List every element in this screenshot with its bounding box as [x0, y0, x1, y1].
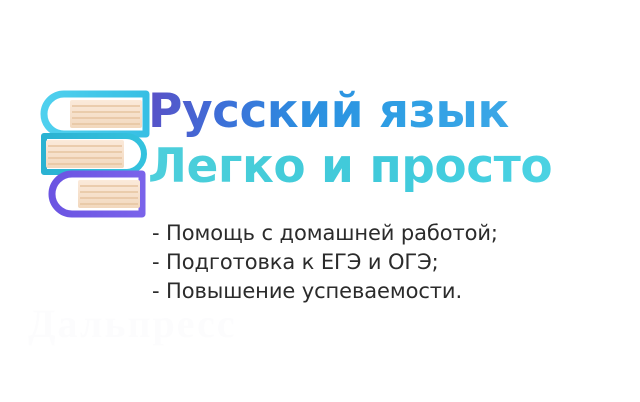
book-bottom: [52, 174, 142, 214]
stack-of-books-icon: [30, 86, 152, 218]
book-middle: [44, 136, 144, 172]
headline-line-1: Русский язык: [148, 82, 628, 141]
list-item: - Помощь с домашней работой;: [152, 219, 622, 248]
watermark-text: Дальпресс: [28, 300, 458, 346]
headline-block: Русский язык Легко и просто: [148, 82, 628, 196]
headline-line-2: Легко и просто: [148, 137, 628, 196]
services-list: - Помощь с домашней работой; - Подготовк…: [152, 219, 622, 306]
list-item: - Повышение успеваемости.: [152, 277, 622, 306]
poster-canvas: Дальпресс: [0, 0, 640, 402]
book-top: [44, 94, 146, 134]
list-item: - Подготовка к ЕГЭ и ОГЭ;: [152, 248, 622, 277]
